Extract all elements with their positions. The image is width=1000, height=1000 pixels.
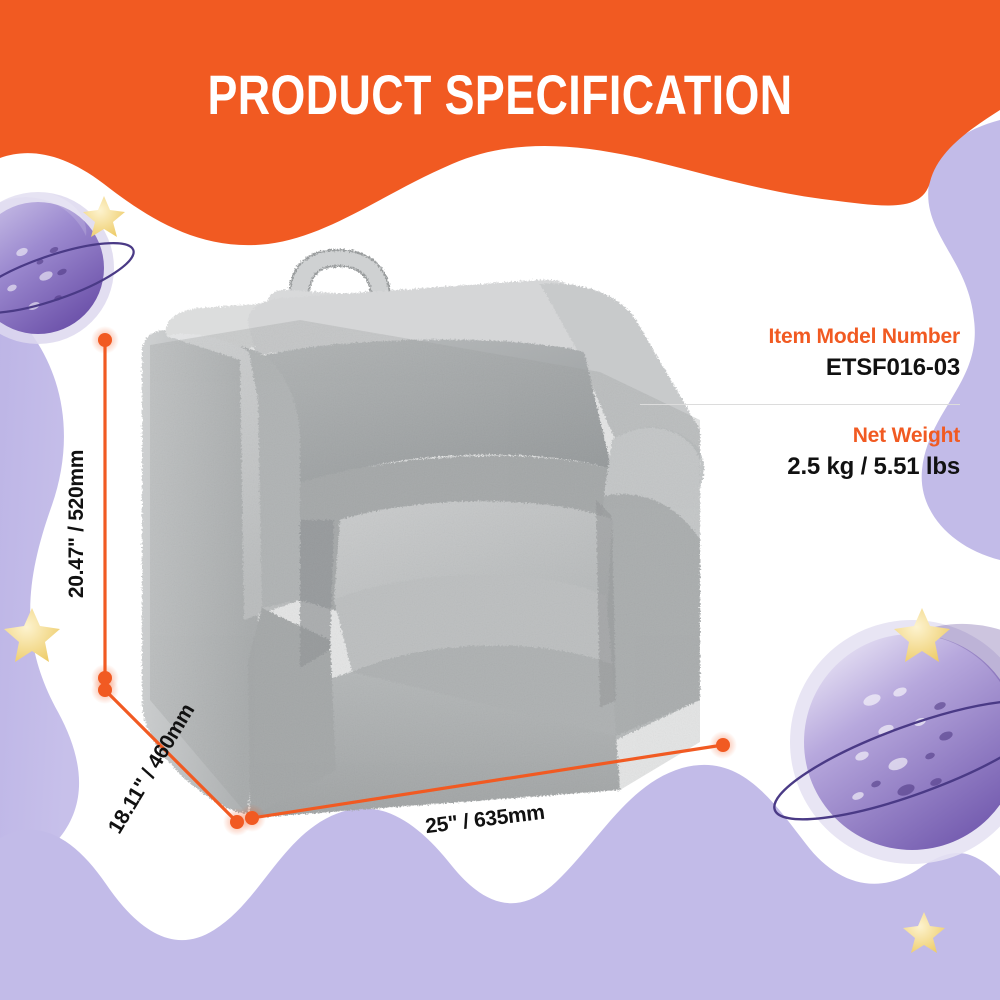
dimension-label-height: 20.47" / 520mm: [65, 409, 89, 639]
spec-value-net-weight: 2.5 kg / 5.51 lbs: [640, 451, 960, 483]
spec-row-net-weight: Net Weight 2.5 kg / 5.51 lbs: [640, 421, 960, 489]
spec-divider: [640, 404, 960, 405]
page-title: PRODUCT SPECIFICATION: [100, 62, 900, 127]
product-specification-page: PRODUCT SPECIFICATION Item Model Number …: [0, 0, 1000, 1000]
specification-panel: Item Model Number ETSF016-03 Net Weight …: [640, 322, 960, 489]
spec-label-item-model-number: Item Model Number: [640, 322, 960, 352]
height-measure-line: [91, 326, 119, 692]
spec-label-net-weight: Net Weight: [640, 421, 960, 451]
measurement-guides: [0, 0, 1000, 1000]
spec-value-item-model-number: ETSF016-03: [640, 352, 960, 384]
spec-row-item-model-number: Item Model Number ETSF016-03: [640, 322, 960, 390]
